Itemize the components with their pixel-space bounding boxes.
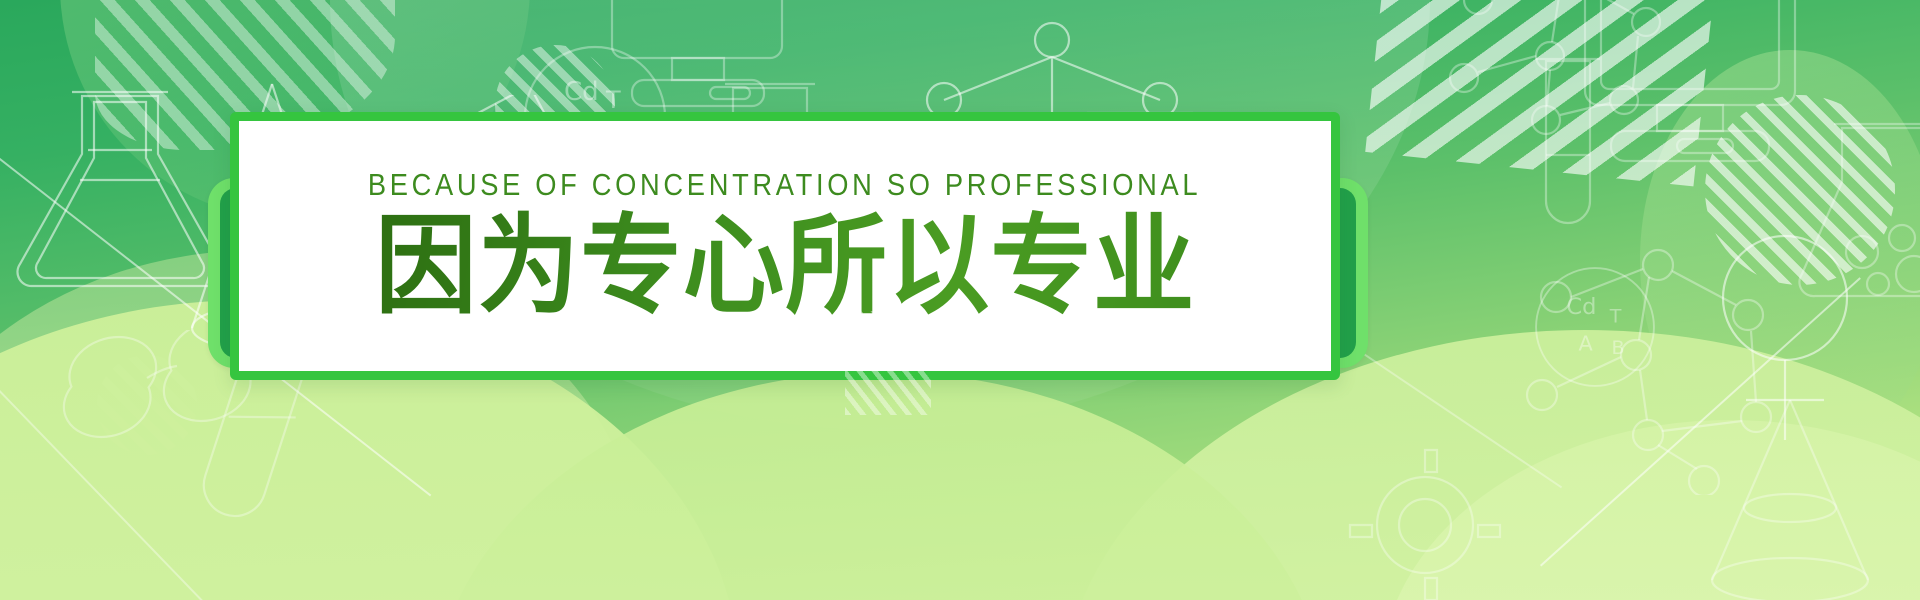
gear-icon	[1330, 430, 1520, 600]
hero-card-wrapper: BECAUSE OF CONCENTRATION SO PROFESSIONAL…	[208, 98, 1368, 398]
svg-text:T: T	[1609, 306, 1622, 328]
test-tube-icon	[1500, 55, 1640, 255]
hill-center	[430, 372, 1330, 600]
element-bubble-icon-right: Cd T A B	[1530, 262, 1660, 392]
svg-text:A: A	[1579, 331, 1594, 355]
svg-text:Cd: Cd	[1566, 294, 1596, 320]
banner-headline-chinese: 因为专心所以专业	[375, 209, 1195, 326]
hero-card: BECAUSE OF CONCENTRATION SO PROFESSIONAL…	[230, 112, 1340, 380]
cone-icon-right	[1690, 390, 1890, 600]
svg-text:B: B	[1611, 337, 1624, 359]
banner-subtitle-english: BECAUSE OF CONCENTRATION SO PROFESSIONAL	[368, 167, 1201, 203]
promo-banner: Cd T A B Si Cd T A B BECAUSE OF C	[0, 0, 1920, 600]
